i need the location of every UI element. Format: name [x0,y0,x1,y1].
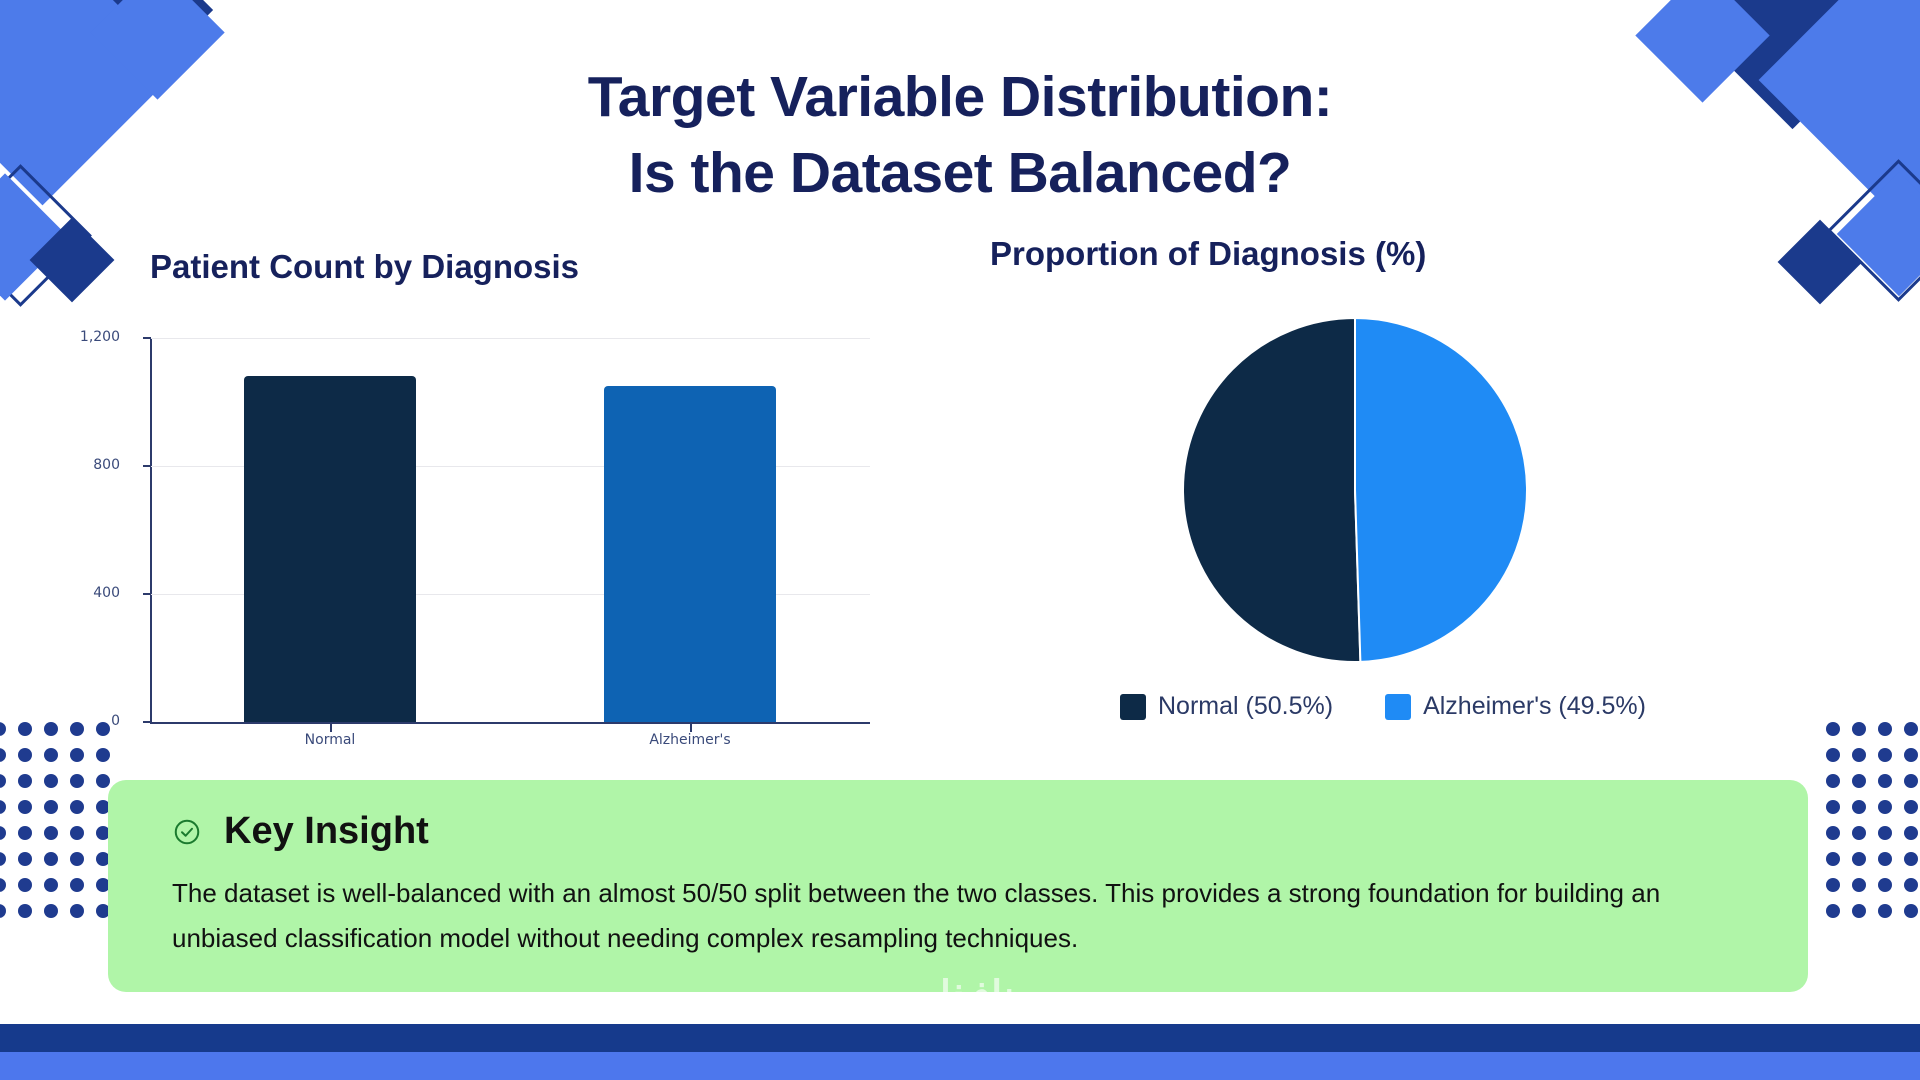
y-tick-mark [143,337,151,339]
dot [44,800,58,814]
dot [70,878,84,892]
legend-label: Normal (50.5%) [1158,692,1333,721]
dot [1852,826,1866,840]
bar[interactable] [604,386,776,722]
dot [1904,826,1918,840]
dot [1878,748,1892,762]
dot [18,852,32,866]
dot [1904,852,1918,866]
bar-chart-title: Patient Count by Diagnosis [150,248,579,286]
dot [18,774,32,788]
page-title: Target Variable Distribution: Is the Dat… [0,60,1920,212]
dot [44,826,58,840]
page-title-line-2: Is the Dataset Balanced? [0,136,1920,212]
dot [1904,774,1918,788]
dot [70,748,84,762]
dot [1852,800,1866,814]
dot [1826,722,1840,736]
dot [1904,722,1918,736]
dot [1904,904,1918,918]
pie-chart-svg [1180,315,1530,665]
dot [1826,826,1840,840]
dot [1904,748,1918,762]
check-circle-icon [172,817,202,847]
dot [44,852,58,866]
dot [0,800,6,814]
dot [1826,774,1840,788]
key-insight-card: Key Insight The dataset is well-balanced… [108,780,1808,992]
gridline [150,338,870,339]
dot [0,826,6,840]
y-tick-mark [143,465,151,467]
pie-chart [1180,315,1530,665]
dot [18,748,32,762]
dot [1878,800,1892,814]
x-tick-label: Normal [240,732,420,748]
dot [1826,852,1840,866]
dot [44,722,58,736]
dot [1904,878,1918,892]
dot [18,904,32,918]
bar-chart-y-axis [150,338,152,724]
y-tick-mark [143,721,151,723]
dot [0,722,6,736]
dot [96,748,110,762]
y-tick-label: 1,200 [72,329,120,345]
y-tick-label: 0 [72,713,120,729]
key-insight-title: Key Insight [224,810,429,853]
dot [0,748,6,762]
dot [1878,722,1892,736]
dot [1904,800,1918,814]
pie-chart-legend: Normal (50.5%) Alzheimer's (49.5%) [1120,692,1646,721]
dot-grid-bottom-left [0,722,122,930]
dot [1878,878,1892,892]
dot [1826,878,1840,892]
dot [0,774,6,788]
dot [18,878,32,892]
dot [1852,878,1866,892]
dot [18,800,32,814]
dot [70,800,84,814]
legend-label: Alzheimer's (49.5%) [1423,692,1646,721]
legend-swatch-icon [1385,694,1411,720]
dot [44,904,58,918]
dot [70,904,84,918]
legend-item-alzheimers[interactable]: Alzheimer's (49.5%) [1385,692,1646,721]
y-tick-mark [143,593,151,595]
dot [1826,748,1840,762]
dot [18,826,32,840]
deco-diamond-tl-dark-2 [30,218,115,303]
dot [1878,852,1892,866]
bar[interactable] [244,376,416,722]
pie-slice[interactable] [1183,318,1360,662]
key-insight-body: The dataset is well-balanced with an alm… [172,871,1744,960]
key-insight-header: Key Insight [172,810,1744,853]
dot [0,904,6,918]
dot [0,878,6,892]
legend-item-normal[interactable]: Normal (50.5%) [1120,692,1333,721]
dot [44,878,58,892]
deco-diamond-tr-dark-2 [1778,220,1863,305]
dot [1852,748,1866,762]
dot [44,774,58,788]
pie-chart-title: Proportion of Diagnosis (%) [990,235,1426,273]
y-tick-label: 400 [72,585,120,601]
slide-canvas: Target Variable Distribution: Is the Dat… [0,0,1920,1080]
dot [70,852,84,866]
dot [44,748,58,762]
dot [70,774,84,788]
dot [1878,904,1892,918]
bar-chart: 04008001,200 NormalAlzheimer's [130,320,850,660]
x-tick-mark [690,724,692,732]
dot [1826,800,1840,814]
y-tick-label: 800 [72,457,120,473]
dot [70,826,84,840]
footer-bar-light [0,1052,1920,1080]
bar-chart-x-axis [150,722,870,724]
dot-grid-bottom-right [1826,722,1920,930]
dot [96,774,110,788]
footer-bar-dark [0,1024,1920,1052]
dot [18,722,32,736]
dot [1826,904,1840,918]
dot [1878,826,1892,840]
page-title-line-1: Target Variable Distribution: [0,60,1920,136]
dot [1852,774,1866,788]
dot [0,852,6,866]
dot [1852,722,1866,736]
dot [1852,904,1866,918]
legend-swatch-icon [1120,694,1146,720]
x-tick-label: Alzheimer's [600,732,780,748]
dot [1852,852,1866,866]
x-tick-mark [330,724,332,732]
dot [1878,774,1892,788]
pie-slice[interactable] [1355,318,1527,662]
